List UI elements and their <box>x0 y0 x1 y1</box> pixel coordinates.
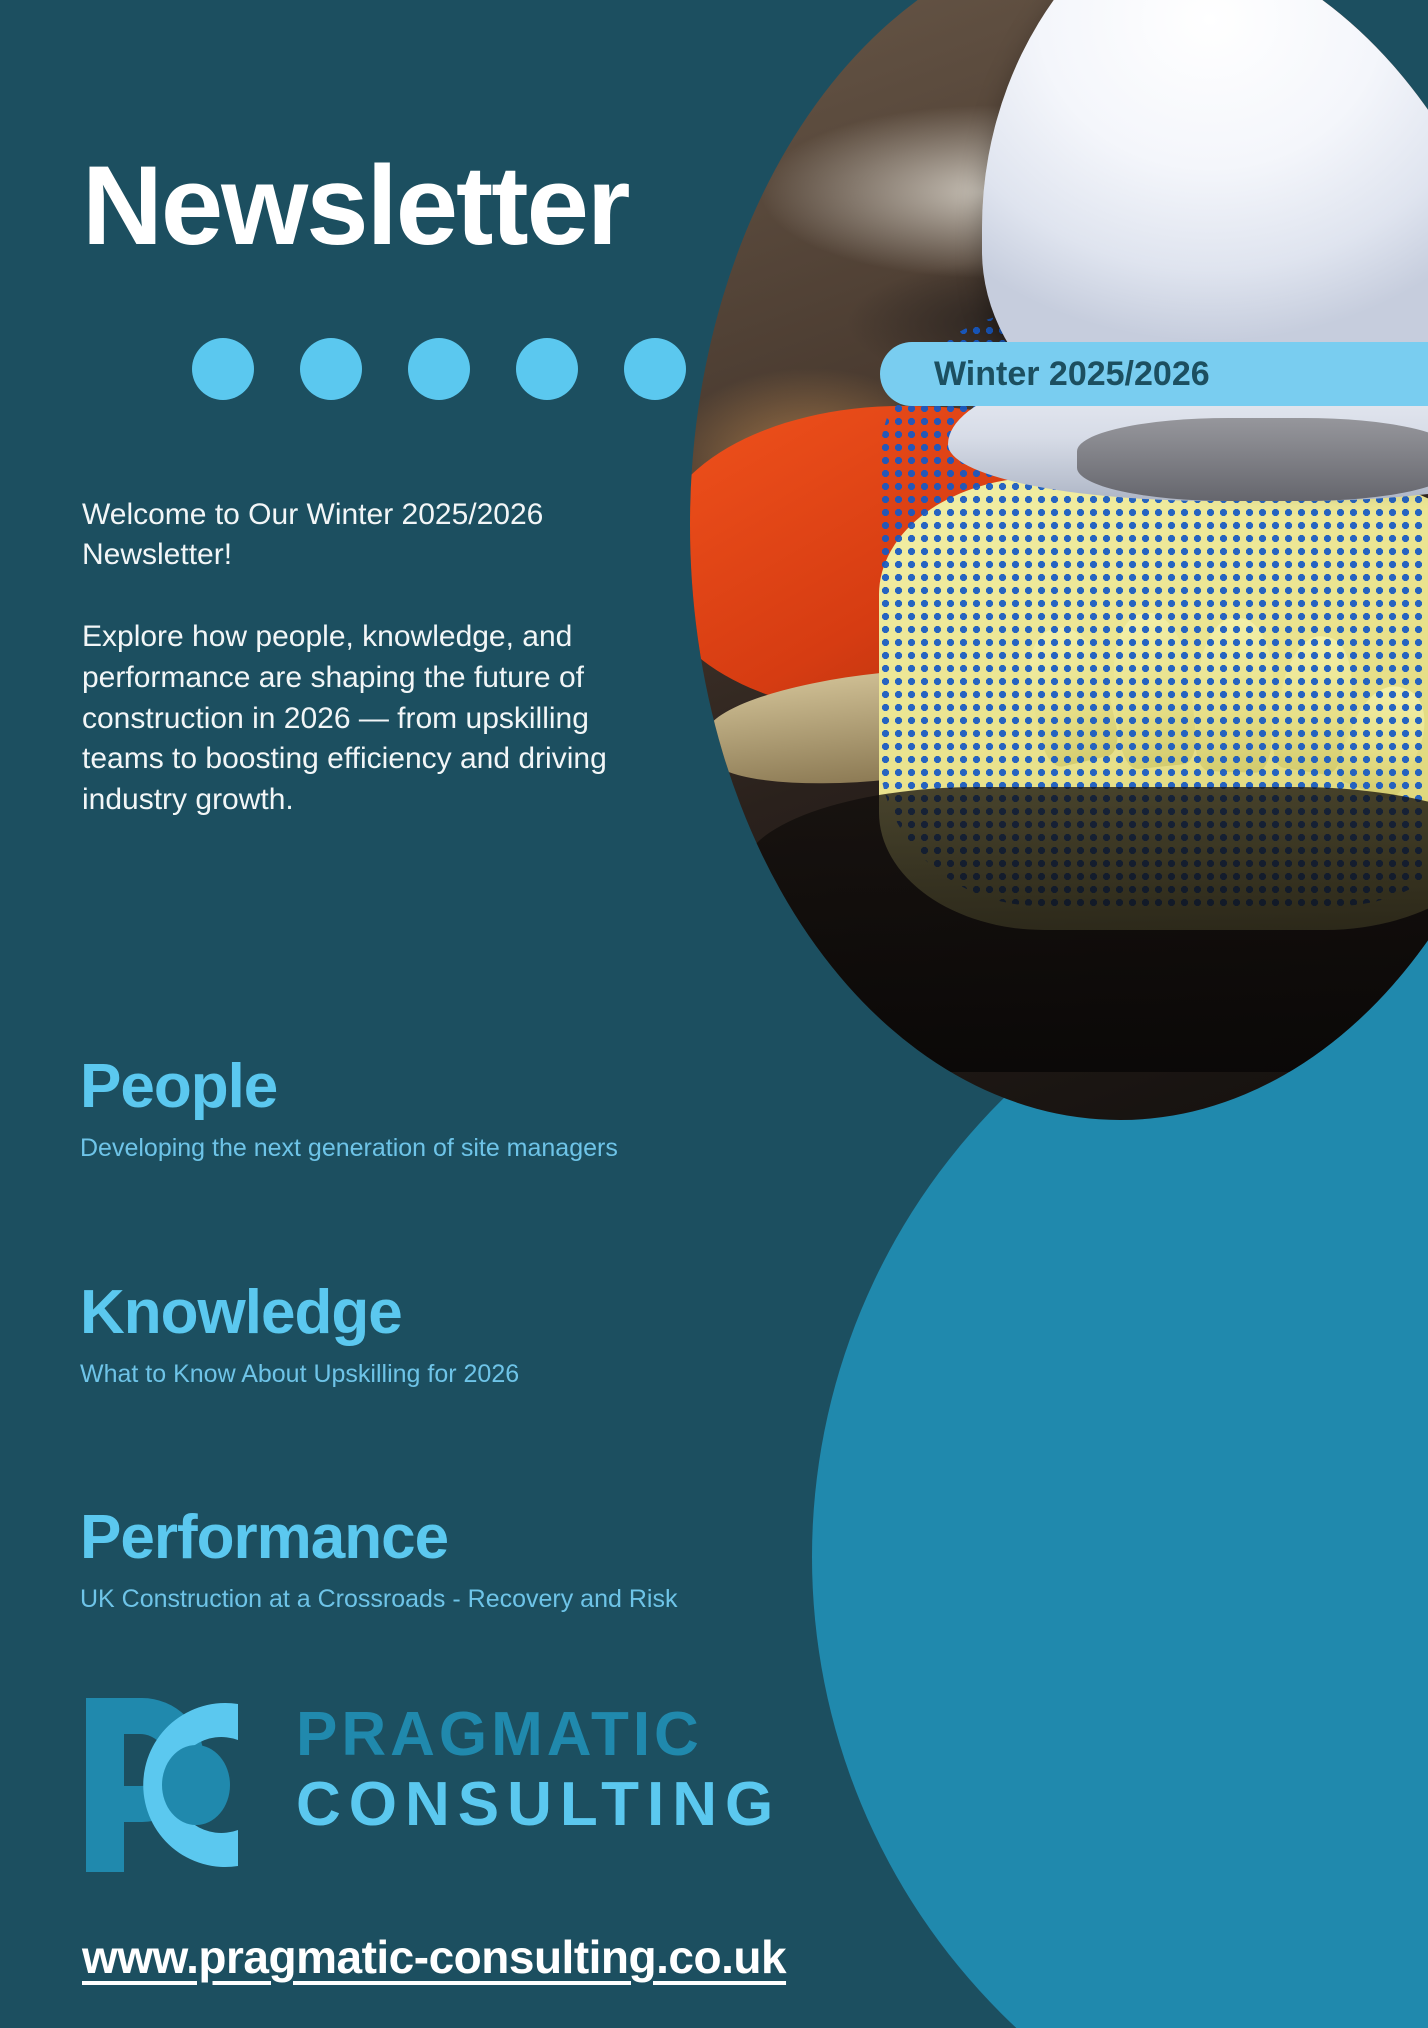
decorative-dot <box>516 338 578 400</box>
section-title-people: People <box>80 1054 720 1119</box>
section-knowledge[interactable]: Knowledge What to Know About Upskilling … <box>80 1280 720 1390</box>
issue-badge: Winter 2025/2026 <box>880 342 1428 406</box>
section-title-performance: Performance <box>80 1505 720 1570</box>
decorative-dot <box>408 338 470 400</box>
decorative-dot <box>624 338 686 400</box>
decorative-dot-row <box>192 338 686 400</box>
logo-wordmark: PRAGMATIC CONSULTING <box>296 1704 781 1836</box>
section-performance[interactable]: Performance UK Construction at a Crossro… <box>80 1505 720 1615</box>
issue-badge-label: Winter 2025/2026 <box>934 355 1210 394</box>
decorative-dot <box>192 338 254 400</box>
section-title-knowledge: Knowledge <box>80 1280 720 1345</box>
logo-word-pragmatic: PRAGMATIC <box>296 1704 781 1766</box>
section-people[interactable]: People Developing the next generation of… <box>80 1054 720 1164</box>
section-subtitle-knowledge: What to Know About Upskilling for 2026 <box>80 1359 720 1390</box>
page-title: Newsletter <box>82 150 628 262</box>
website-url-link[interactable]: www.pragmatic-consulting.co.uk <box>82 1930 786 1984</box>
content-layer: Newsletter Winter 2025/2026 Welcome to O… <box>0 0 1428 2028</box>
section-subtitle-performance: UK Construction at a Crossroads - Recove… <box>80 1584 720 1615</box>
newsletter-cover-page: Newsletter Winter 2025/2026 Welcome to O… <box>0 0 1428 2028</box>
intro-paragraph: Explore how people, knowledge, and perfo… <box>82 617 662 821</box>
pc-monogram-icon <box>78 1690 278 1880</box>
pragmatic-consulting-logo[interactable]: PRAGMATIC CONSULTING <box>78 1690 768 1885</box>
decorative-dot <box>300 338 362 400</box>
section-subtitle-people: Developing the next generation of site m… <box>80 1133 720 1164</box>
welcome-heading: Welcome to Our Winter 2025/2026 Newslett… <box>82 495 682 574</box>
logo-word-consulting: CONSULTING <box>296 1774 781 1836</box>
